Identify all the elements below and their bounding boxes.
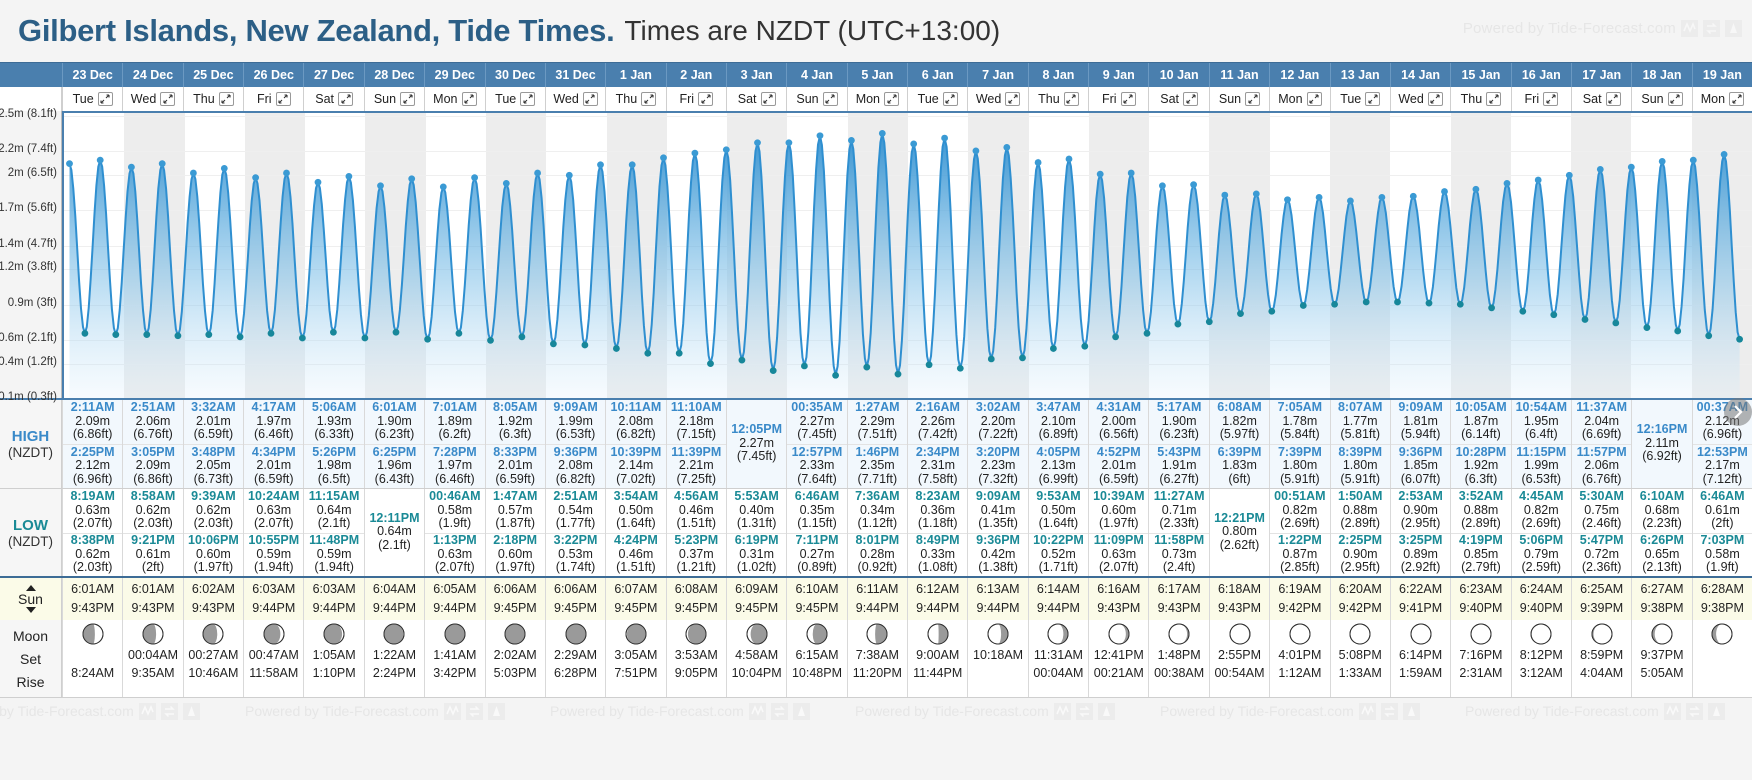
sunset-time: 9:45PM	[735, 599, 778, 618]
low-tide-point	[1081, 343, 1088, 350]
low-tide-height-ft: (2.46ft)	[1572, 517, 1631, 531]
date-header-cell[interactable]: 28 Dec	[364, 63, 424, 87]
low-tide-height-ft: (2.62ft)	[1210, 539, 1269, 553]
date-header-cell[interactable]: 11 Jan	[1209, 63, 1269, 87]
low-tide-time: 2:51AM	[546, 490, 605, 504]
moon-phase-icon	[1651, 623, 1673, 645]
page-header: Gilbert Islands, New Zealand, Tide Times…	[0, 0, 1752, 62]
low-tide-height-m: 0.90m	[1391, 504, 1450, 518]
low-tide-entry: 1:13PM0.63m(2.07ft)	[425, 533, 484, 577]
moonrise-time: 10:04PM	[732, 665, 782, 682]
high-tide-entry: 2:25PM2.12m(6.96ft)	[63, 444, 122, 488]
low-tide-time: 1:50AM	[1331, 490, 1390, 504]
low-tide-height-ft: (2.03ft)	[184, 517, 243, 531]
moonrise-time	[1721, 665, 1724, 682]
low-tide-height-m: 0.59m	[244, 548, 303, 562]
low-tide-time: 5:06PM	[1512, 534, 1571, 548]
low-tide-height-ft: (2.07ft)	[425, 561, 484, 575]
high-tide-height-m: 1.81m	[1391, 415, 1450, 429]
date-header-cell[interactable]: 13 Jan	[1330, 63, 1390, 87]
moon-phase-icon	[987, 623, 1009, 645]
high-tide-entry: 1:27AM2.29m(7.51ft)	[848, 400, 907, 444]
date-header-cell[interactable]: 7 Jan	[967, 63, 1027, 87]
low-tide-point	[739, 357, 746, 364]
moonrise-time: 9:35AM	[131, 665, 174, 682]
low-tide-height-m: 0.60m	[184, 548, 243, 562]
high-tide-time: 9:36PM	[1391, 446, 1450, 460]
date-header-cell[interactable]: 19 Jan	[1692, 63, 1752, 87]
low-tide-cell: 00:51AM0.82m(2.69ft)1:22PM0.87m(2.85ft)	[1269, 489, 1329, 576]
low-tide-height-ft: (2.07ft)	[244, 517, 303, 531]
low-tide-cell: 9:39AM0.62m(2.03ft)10:06PM0.60m(1.97ft)	[183, 489, 243, 576]
date-header-cell[interactable]: 16 Jan	[1511, 63, 1571, 87]
weekday-header-cell: Thu	[1028, 87, 1088, 111]
high-tide-height-ft: (6.89ft)	[1029, 428, 1088, 442]
sunset-time: 9:44PM	[373, 599, 416, 618]
moonset-time: 8:59PM	[1580, 647, 1623, 664]
wave-icon	[444, 703, 461, 720]
low-tide-cell: 2:53AM0.90m(2.95ft)3:25PM0.89m(2.92ft)	[1390, 489, 1450, 576]
low-tide-height-m: 0.63m	[1089, 548, 1148, 562]
high-tide-height-m: 2.01m	[184, 415, 243, 429]
high-tide-time: 10:05AM	[1451, 401, 1510, 415]
high-tide-point	[1566, 172, 1573, 179]
high-tide-time: 11:39PM	[667, 446, 726, 460]
low-tide-point	[1674, 328, 1681, 335]
expand-day-icon[interactable]	[1729, 92, 1744, 106]
low-tide-entry: 3:52AM0.88m(2.89ft)	[1451, 489, 1510, 533]
low-tide-time: 7:36AM	[848, 490, 907, 504]
high-tide-point	[1128, 170, 1135, 177]
sunrise-time: 6:23AM	[1459, 580, 1502, 599]
expand-day-icon[interactable]	[1064, 92, 1079, 106]
sun-cell: 6:16AM9:43PM	[1088, 578, 1148, 620]
weekday-header-cell: Sun	[364, 87, 424, 111]
high-tide-cell: 9:09AM1.81m(5.94ft)9:36PM1.85m(6.07ft)	[1390, 400, 1450, 488]
moonset-time: 8:12PM	[1520, 647, 1563, 664]
date-header-cell[interactable]: 4 Jan	[786, 63, 846, 87]
moonset-time: 3:53AM	[675, 647, 718, 664]
moonset-time: 3:05AM	[614, 647, 657, 664]
date-header-cell[interactable]: 2 Jan	[666, 63, 726, 87]
moon-phase-icon	[1349, 623, 1371, 645]
high-tide-height-ft: (7.71ft)	[848, 473, 907, 487]
moon-cell: 2:29AM6:28PM	[545, 620, 605, 697]
high-tide-point	[1379, 194, 1386, 201]
low-tide-height-m: 0.88m	[1451, 504, 1510, 518]
low-tide-time: 2:53AM	[1391, 490, 1450, 504]
chart-y-axis: 2.5m (8.1ft)2.2m (7.4ft)2m (6.5ft)1.7m (…	[0, 111, 62, 398]
powered-by-watermark: Powered by Tide-Forecast.com	[1160, 703, 1420, 720]
high-tide-point	[503, 180, 510, 187]
low-tide-height-ft: (1.97ft)	[1089, 517, 1148, 531]
low-tide-entry: 8:19AM0.63m(2.07ft)	[63, 489, 122, 533]
moon-phase-icon	[263, 623, 285, 645]
high-tide-height-m: 2.01m	[486, 459, 545, 473]
high-label-timezone: (NZDT)	[8, 445, 53, 460]
weekday-label: Mon	[1701, 92, 1725, 106]
low-tide-height-m: 0.68m	[1632, 504, 1691, 518]
moon-times: 00:47AM11:58AM	[249, 647, 299, 682]
high-tide-time: 3:02AM	[968, 401, 1027, 415]
low-tide-height-ft: (2.95ft)	[1391, 517, 1450, 531]
low-tide-height-ft: (1.51ft)	[606, 561, 665, 575]
expand-day-icon[interactable]	[219, 92, 234, 106]
low-tide-height-ft: (1.12ft)	[848, 517, 907, 531]
high-tide-cell: 12:05PM2.27m(7.45ft)	[726, 400, 786, 488]
low-tide-cell: 11:15AM0.64m(2.1ft)11:48PM0.59m(1.94ft)	[303, 489, 363, 576]
sunset-time: 9:42PM	[1278, 599, 1321, 618]
date-header-cell[interactable]: 31 Dec	[545, 63, 605, 87]
sunset-time: 9:43PM	[131, 599, 174, 618]
date-header-cell[interactable]: 27 Dec	[303, 63, 363, 87]
high-tide-point	[1721, 151, 1728, 158]
low-tide-cell: 00:46AM0.58m(1.9ft)1:13PM0.63m(2.07ft)	[424, 489, 484, 576]
low-tide-entry: 10:22PM0.52m(1.71ft)	[1029, 533, 1088, 577]
moonrise-time: 11:44PM	[913, 665, 962, 682]
low-tide-time: 1:22PM	[1270, 534, 1329, 548]
high-tide-point	[1410, 193, 1417, 200]
expand-day-icon[interactable]	[823, 92, 838, 106]
date-header-cell[interactable]: 18 Jan	[1631, 63, 1691, 87]
date-header-cell[interactable]: 14 Jan	[1390, 63, 1450, 87]
expand-day-icon[interactable]	[338, 92, 353, 106]
moon-times: 3:05AM7:51PM	[614, 647, 657, 682]
moonset-time: 1:05AM	[313, 647, 356, 664]
moonrise-time: 10:46AM	[188, 665, 238, 682]
low-tide-height-ft: (2.85ft)	[1270, 561, 1329, 575]
high-tide-height-ft: (7.58ft)	[908, 473, 967, 487]
date-header-cell[interactable]: 10 Jan	[1148, 63, 1208, 87]
low-tide-time: 5:30AM	[1572, 490, 1631, 504]
low-tide-entry: 8:49PM0.33m(1.08ft)	[908, 533, 967, 577]
low-tide-entry: 6:19PM0.31m(1.02ft)	[727, 533, 786, 577]
expand-day-icon[interactable]	[583, 92, 598, 106]
sun-cell: 6:22AM9:41PM	[1390, 578, 1450, 620]
moon-cell: 4:58AM10:04PM	[726, 620, 786, 697]
high-tide-time: 6:01AM	[365, 401, 424, 415]
high-tide-point	[283, 170, 290, 177]
high-tide-entry: 11:15PM1.99m(6.53ft)	[1512, 444, 1571, 488]
powered-by-watermark: Powered by Tide-Forecast.com	[0, 703, 200, 720]
low-tide-time: 4:19PM	[1451, 534, 1510, 548]
sun-label-text: Sun	[18, 591, 43, 607]
high-tide-time: 1:46PM	[848, 446, 907, 460]
low-tide-time: 10:06PM	[184, 534, 243, 548]
date-header-cell[interactable]: 9 Jan	[1088, 63, 1148, 87]
high-tide-point	[408, 175, 415, 182]
moonrise-time: 4:04AM	[1580, 665, 1623, 682]
low-tide-time: 3:22PM	[546, 534, 605, 548]
weekday-header-cell: Sat	[303, 87, 363, 111]
moon-times: 10:18AM	[973, 647, 1023, 682]
low-tide-time: 00:51AM	[1270, 490, 1329, 504]
sun-cell: 6:23AM9:40PM	[1450, 578, 1510, 620]
low-tide-point	[1050, 345, 1057, 352]
high-tide-height-ft: (5.97ft)	[1210, 428, 1269, 442]
expand-day-icon[interactable]	[98, 92, 113, 106]
moon-phase-icon	[1591, 623, 1613, 645]
low-tide-cell: 9:09AM0.41m(1.35ft)9:36PM0.42m(1.38ft)	[967, 489, 1027, 576]
low-tide-point	[1268, 308, 1275, 315]
low-tide-height-ft: (2.33ft)	[1149, 517, 1208, 531]
high-tide-height-ft: (5.91ft)	[1331, 473, 1390, 487]
weekday-label: Fri	[679, 92, 694, 106]
expand-day-icon[interactable]	[1121, 92, 1136, 106]
date-header-cell[interactable]: 1 Jan	[605, 63, 665, 87]
sunrise-time: 6:02AM	[192, 580, 235, 599]
low-tide-time: 6:46AM	[1693, 490, 1752, 504]
low-tide-height-m: 0.41m	[968, 504, 1027, 518]
high-tide-height-ft: (6.69ft)	[1572, 428, 1631, 442]
high-tide-cell: 10:05AM1.87m(6.14ft)10:28PM1.92m(6.3ft)	[1450, 400, 1510, 488]
expand-day-icon[interactable]	[1606, 92, 1621, 106]
expand-day-icon[interactable]	[1245, 92, 1260, 106]
date-header-cell[interactable]: 3 Jan	[726, 63, 786, 87]
next-days-button[interactable]	[1724, 398, 1752, 426]
low-tide-height-m: 0.63m	[63, 504, 122, 518]
weekday-header-cell: Tue	[485, 87, 545, 111]
moon-cell: 00:47AM11:58AM	[243, 620, 303, 697]
high-tide-point	[629, 161, 636, 168]
high-tide-point	[1690, 157, 1697, 164]
moonset-time	[1721, 647, 1724, 664]
date-header-cell[interactable]: 25 Dec	[183, 63, 243, 87]
expand-day-icon[interactable]	[400, 92, 415, 106]
sunset-time: 9:39PM	[1580, 599, 1623, 618]
high-tide-point	[315, 179, 322, 186]
tide-chart: 2.5m (8.1ft)2.2m (7.4ft)2m (6.5ft)1.7m (…	[0, 111, 1752, 400]
high-tide-time: 4:17AM	[244, 401, 303, 415]
low-tide-cell: 8:23AM0.36m(1.18ft)8:49PM0.33m(1.08ft)	[907, 489, 967, 576]
low-tide-cell: 11:27AM0.71m(2.33ft)11:58PM0.73m(2.4ft)	[1148, 489, 1208, 576]
weekday-header-row: TueWedThuFriSatSunMonTueWedThuFriSatSunM…	[0, 87, 1752, 111]
moon-times: 1:05AM1:10PM	[313, 647, 356, 682]
date-header-cell[interactable]: 8 Jan	[1028, 63, 1088, 87]
high-tide-entry: 5:26PM1.98m(6.5ft)	[304, 444, 363, 488]
moon-times: 8:24AM	[71, 647, 114, 682]
low-tide-point	[1206, 318, 1213, 325]
moonrise-time: 5:05AM	[1640, 665, 1683, 682]
low-tide-time: 9:21PM	[123, 534, 182, 548]
powered-by-watermark: Powered by Tide-Forecast.com	[855, 703, 1115, 720]
moon-times: 7:38AM11:20PM	[853, 647, 902, 682]
high-tide-point	[879, 130, 886, 137]
low-tide-time: 9:39AM	[184, 490, 243, 504]
expand-day-icon[interactable]	[1183, 92, 1198, 106]
low-tide-height-ft: (2.23ft)	[1632, 517, 1691, 531]
moon-times: 8:12PM3:12AM	[1520, 647, 1563, 682]
high-tide-height-ft: (7.25ft)	[667, 473, 726, 487]
low-tide-height-ft: (2.4ft)	[1149, 561, 1208, 575]
low-tide-row: LOW (NZDT) 8:19AM0.63m(2.07ft)8:38PM0.62…	[0, 489, 1752, 578]
high-tide-time: 10:39PM	[606, 446, 665, 460]
high-tide-point	[1190, 181, 1197, 188]
sunset-time: 9:42PM	[1339, 599, 1382, 618]
powered-by-text: Powered by Tide-Forecast.com	[550, 703, 744, 719]
date-header-cell[interactable]: 15 Jan	[1450, 63, 1510, 87]
sunset-time: 9:45PM	[675, 599, 718, 618]
y-axis-tick-label: 0.1m (0.3ft)	[0, 391, 57, 403]
high-tide-time: 7:28PM	[425, 446, 484, 460]
date-header-cell[interactable]: 26 Dec	[243, 63, 303, 87]
date-header-cell[interactable]: 5 Jan	[847, 63, 907, 87]
sunset-time: 9:44PM	[977, 599, 1020, 618]
low-tide-height-ft: (2.59ft)	[1512, 561, 1571, 575]
expand-day-icon[interactable]	[884, 92, 899, 106]
date-header-cell[interactable]: 29 Dec	[424, 63, 484, 87]
high-tide-point	[1159, 182, 1166, 189]
low-tide-entry: 6:46AM0.61m(2ft)	[1693, 489, 1752, 533]
expand-day-icon[interactable]	[698, 92, 713, 106]
low-tide-height-ft: (2ft)	[123, 561, 182, 575]
expand-day-icon[interactable]	[1307, 92, 1322, 106]
tide-station-icon	[183, 703, 200, 720]
low-tide-height-m: 0.40m	[727, 504, 786, 518]
low-tide-height-ft: (0.92ft)	[848, 561, 907, 575]
low-tide-height-ft: (2.13ft)	[1632, 561, 1691, 575]
high-tide-point	[1659, 158, 1666, 165]
moonrise-time: 10:48PM	[792, 665, 842, 682]
high-tide-cell: 1:27AM2.29m(7.51ft)1:46PM2.35m(7.71ft)	[847, 400, 907, 488]
low-tide-height-ft: (2.1ft)	[365, 539, 424, 553]
expand-day-icon[interactable]	[276, 92, 291, 106]
date-header-cell[interactable]: 24 Dec	[122, 63, 182, 87]
high-tide-entry: 4:52PM2.01m(6.59ft)	[1089, 444, 1148, 488]
refresh-icon	[771, 703, 788, 720]
low-tide-entry: 2:51AM0.54m(1.77ft)	[546, 489, 605, 533]
low-tide-height-ft: (2ft)	[1693, 517, 1752, 531]
high-tide-entry: 8:05AM1.92m(6.3ft)	[486, 400, 545, 444]
moonset-time: 12:41PM	[1094, 647, 1144, 664]
high-tide-time: 11:10AM	[667, 401, 726, 415]
low-tide-height-m: 0.52m	[1029, 548, 1088, 562]
expand-day-icon[interactable]	[1486, 92, 1501, 106]
expand-day-icon[interactable]	[1365, 92, 1380, 106]
sunrise-time: 6:05AM	[433, 580, 476, 599]
chevron-right-icon	[1730, 404, 1746, 420]
high-tide-point	[566, 172, 573, 179]
moon-cell: 8:59PM4:04AM	[1571, 620, 1631, 697]
powered-by-text: Powered by Tide-Forecast.com	[1160, 703, 1354, 719]
high-tide-height-ft: (6.82ft)	[606, 428, 665, 442]
low-tide-height-ft: (2.89ft)	[1451, 517, 1510, 531]
low-tide-time: 10:55PM	[244, 534, 303, 548]
expand-day-icon[interactable]	[641, 92, 656, 106]
low-tide-height-ft: (2.92ft)	[1391, 561, 1450, 575]
high-tide-time: 2:11AM	[63, 401, 122, 415]
high-tide-point	[1473, 186, 1480, 193]
low-tide-height-m: 0.64m	[365, 525, 424, 539]
low-tide-height-m: 0.37m	[667, 548, 726, 562]
powered-by-watermark: Powered by Tide-Forecast.com	[245, 703, 505, 720]
low-tide-time: 11:27AM	[1149, 490, 1208, 504]
low-tide-time: 6:46AM	[787, 490, 846, 504]
low-tide-point	[268, 330, 275, 337]
date-header-cell[interactable]: 6 Jan	[907, 63, 967, 87]
sunrise-time: 6:28AM	[1701, 580, 1744, 599]
sunrise-time: 6:18AM	[1218, 580, 1261, 599]
low-tide-height-m: 0.75m	[1572, 504, 1631, 518]
sun-row-label: Sun	[0, 578, 62, 620]
high-tide-entry: 8:33PM2.01m(6.59ft)	[486, 444, 545, 488]
chart-plot-area[interactable]	[62, 111, 1752, 398]
high-tide-height-m: 2.17m	[1693, 459, 1752, 473]
moon-cell: 11:31AM00:04AM	[1028, 620, 1088, 697]
expand-day-icon[interactable]	[1428, 92, 1443, 106]
high-tide-height-m: 1.85m	[1391, 459, 1450, 473]
low-tide-cell: 1:47AM0.57m(1.87ft)2:18PM0.60m(1.97ft)	[485, 489, 545, 576]
high-tide-height-m: 2.23m	[968, 459, 1027, 473]
moonrise-time: 11:58AM	[249, 665, 298, 682]
moon-cell: 1:05AM1:10PM	[303, 620, 363, 697]
y-axis-tick-label: 1.4m (4.7ft)	[0, 238, 57, 250]
high-tide-cell: 4:17AM1.97m(6.46ft)4:34PM2.01m(6.59ft)	[243, 400, 303, 488]
low-tide-point	[175, 332, 182, 339]
expand-day-icon[interactable]	[1668, 92, 1683, 106]
sunrise-time: 6:04AM	[373, 580, 416, 599]
expand-day-icon[interactable]	[462, 92, 477, 106]
low-tide-cell: 6:46AM0.35m(1.15ft)7:11PM0.27m(0.89ft)	[786, 489, 846, 576]
low-tide-entry: 6:10AM0.68m(2.23ft)	[1632, 489, 1691, 533]
moon-times: 7:16PM2:31AM	[1459, 647, 1502, 682]
expand-day-icon[interactable]	[761, 92, 776, 106]
expand-day-icon[interactable]	[1005, 92, 1020, 106]
moon-times: 1:41AM3:42PM	[433, 647, 476, 682]
high-tide-entry: 5:17AM1.90m(6.23ft)	[1149, 400, 1208, 444]
high-tide-point	[440, 184, 447, 191]
tide-station-icon	[1403, 703, 1420, 720]
low-tide-height-m: 0.53m	[546, 548, 605, 562]
date-header-cell[interactable]: 30 Dec	[485, 63, 545, 87]
high-tide-point	[660, 154, 667, 161]
high-tide-height-m: 2.06m	[1572, 459, 1631, 473]
high-tide-entry: 2:51AM2.06m(6.76ft)	[123, 400, 182, 444]
sunrise-time: 6:10AM	[795, 580, 838, 599]
high-tide-entry: 6:08AM1.82m(5.97ft)	[1210, 400, 1269, 444]
expand-day-icon[interactable]	[520, 92, 535, 106]
weekday-label: Fri	[257, 92, 272, 106]
high-tide-height-m: 1.83m	[1210, 459, 1269, 473]
high-tide-entry: 3:02AM2.20m(7.22ft)	[968, 400, 1027, 444]
expand-day-icon[interactable]	[160, 92, 175, 106]
low-label-text: LOW	[13, 517, 48, 534]
date-header-cell[interactable]: 23 Dec	[62, 63, 122, 87]
low-tide-cell: 3:52AM0.88m(2.89ft)4:19PM0.85m(2.79ft)	[1450, 489, 1510, 576]
moonrise-label-text: Rise	[16, 674, 44, 690]
expand-day-icon[interactable]	[943, 92, 958, 106]
powered-by-text: Powered by Tide-Forecast.com	[1465, 703, 1659, 719]
high-tide-point	[221, 165, 228, 172]
low-tide-cell: 3:54AM0.50m(1.64ft)4:24PM0.46m(1.51ft)	[605, 489, 665, 576]
refresh-icon	[1703, 20, 1720, 37]
high-tide-point	[190, 170, 197, 177]
high-tide-height-m: 2.20m	[968, 415, 1027, 429]
low-tide-entry: 10:55PM0.59m(1.94ft)	[244, 533, 303, 577]
tide-station-icon	[488, 703, 505, 720]
high-tide-time: 2:25PM	[63, 446, 122, 460]
weekday-header-cell: Wed	[1390, 87, 1450, 111]
refresh-icon	[161, 703, 178, 720]
date-header-cell[interactable]: 17 Jan	[1571, 63, 1631, 87]
date-header-cell[interactable]: 12 Jan	[1269, 63, 1329, 87]
expand-day-icon[interactable]	[1543, 92, 1558, 106]
low-tide-height-ft: (1.35ft)	[968, 517, 1027, 531]
high-tide-height-ft: (5.91ft)	[1270, 473, 1329, 487]
high-tide-point	[723, 146, 730, 153]
high-tide-height-ft: (6.86ft)	[123, 473, 182, 487]
moonset-time: 7:38AM	[856, 647, 899, 664]
